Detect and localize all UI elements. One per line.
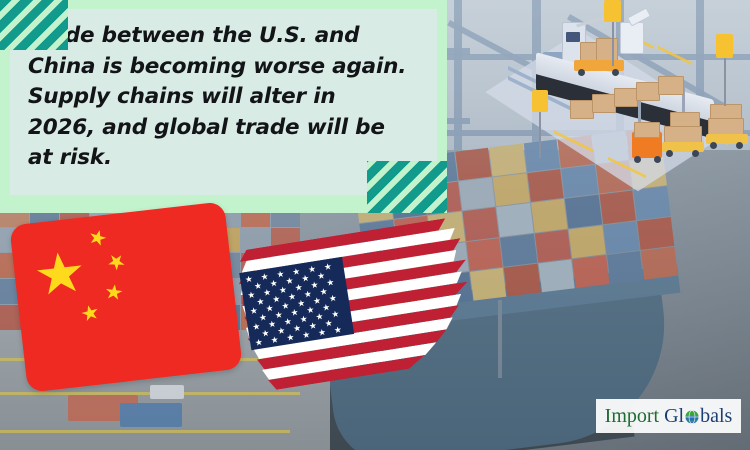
- logo-word-bals: bals: [700, 405, 732, 427]
- headline-line: 2026, and global trade will be: [28, 113, 428, 144]
- wheel: [634, 156, 641, 163]
- sign-post: [612, 22, 614, 66]
- wheel: [736, 142, 743, 149]
- warehouse-sign: [532, 90, 548, 112]
- china-flag: [9, 201, 243, 392]
- logo-word-gl: Gl: [664, 405, 684, 427]
- wheel: [666, 150, 673, 157]
- package-on-agv: [596, 38, 618, 62]
- package-on-belt: [614, 88, 638, 107]
- sign-post: [724, 58, 726, 106]
- headline-line: Trade between the U.S. and: [28, 21, 428, 52]
- headline-panel: Trade between the U.S. and China is beco…: [0, 0, 447, 213]
- package-on-belt: [592, 94, 616, 113]
- decorative-stripes-bottom-right: [367, 161, 447, 213]
- usa-flag-canton: [239, 257, 354, 350]
- logo-text: Import Glbals: [605, 406, 733, 426]
- china-flag-star-small: [80, 303, 100, 323]
- wheel: [710, 142, 717, 149]
- floor-dash-marking: [658, 46, 692, 66]
- wheel: [692, 150, 699, 157]
- wheel: [612, 69, 619, 76]
- sign-post: [539, 112, 541, 158]
- decorative-stripes-top-left: [0, 0, 68, 50]
- china-flag-star-small: [105, 250, 128, 273]
- package-on-agv: [634, 122, 660, 138]
- china-flag-star-small: [104, 283, 123, 301]
- isometric-warehouse-illustration: [512, 0, 750, 184]
- warehouse-sign: [604, 0, 621, 22]
- china-flag-star-large: [35, 250, 86, 299]
- globe-icon: [684, 409, 700, 425]
- package-on-belt: [570, 100, 594, 119]
- package-on-belt: [658, 76, 684, 95]
- warehouse-sign: [716, 34, 733, 58]
- china-flag-star-small: [87, 228, 108, 248]
- import-globals-logo[interactable]: Import Glbals: [596, 399, 741, 433]
- package-on-belt: [636, 82, 660, 101]
- wheel: [654, 156, 661, 163]
- poster-root: Trade between the U.S. and China is beco…: [0, 0, 750, 450]
- headline-line: China is becoming worse again.: [28, 52, 428, 83]
- scanner-screen: [566, 32, 580, 42]
- page-title: Trade between the U.S. and China is beco…: [28, 21, 428, 174]
- wheel: [578, 69, 585, 76]
- logo-word-import: Import: [605, 405, 659, 427]
- headline-line: Supply chains will alter in: [28, 82, 428, 113]
- robotic-arm: [620, 22, 644, 54]
